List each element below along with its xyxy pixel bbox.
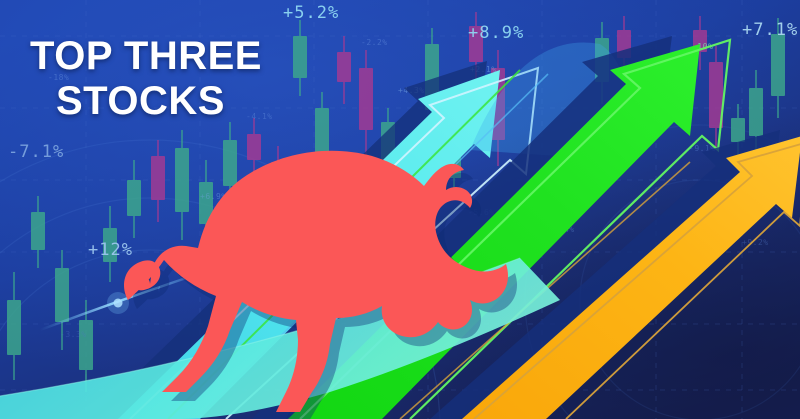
bull-layer bbox=[0, 0, 800, 419]
poster-canvas: +5.2%+8.9%+7.1%-7.1%+12%-10%-18%-2.2%+4.… bbox=[0, 0, 800, 419]
bull-silhouette bbox=[124, 151, 508, 412]
